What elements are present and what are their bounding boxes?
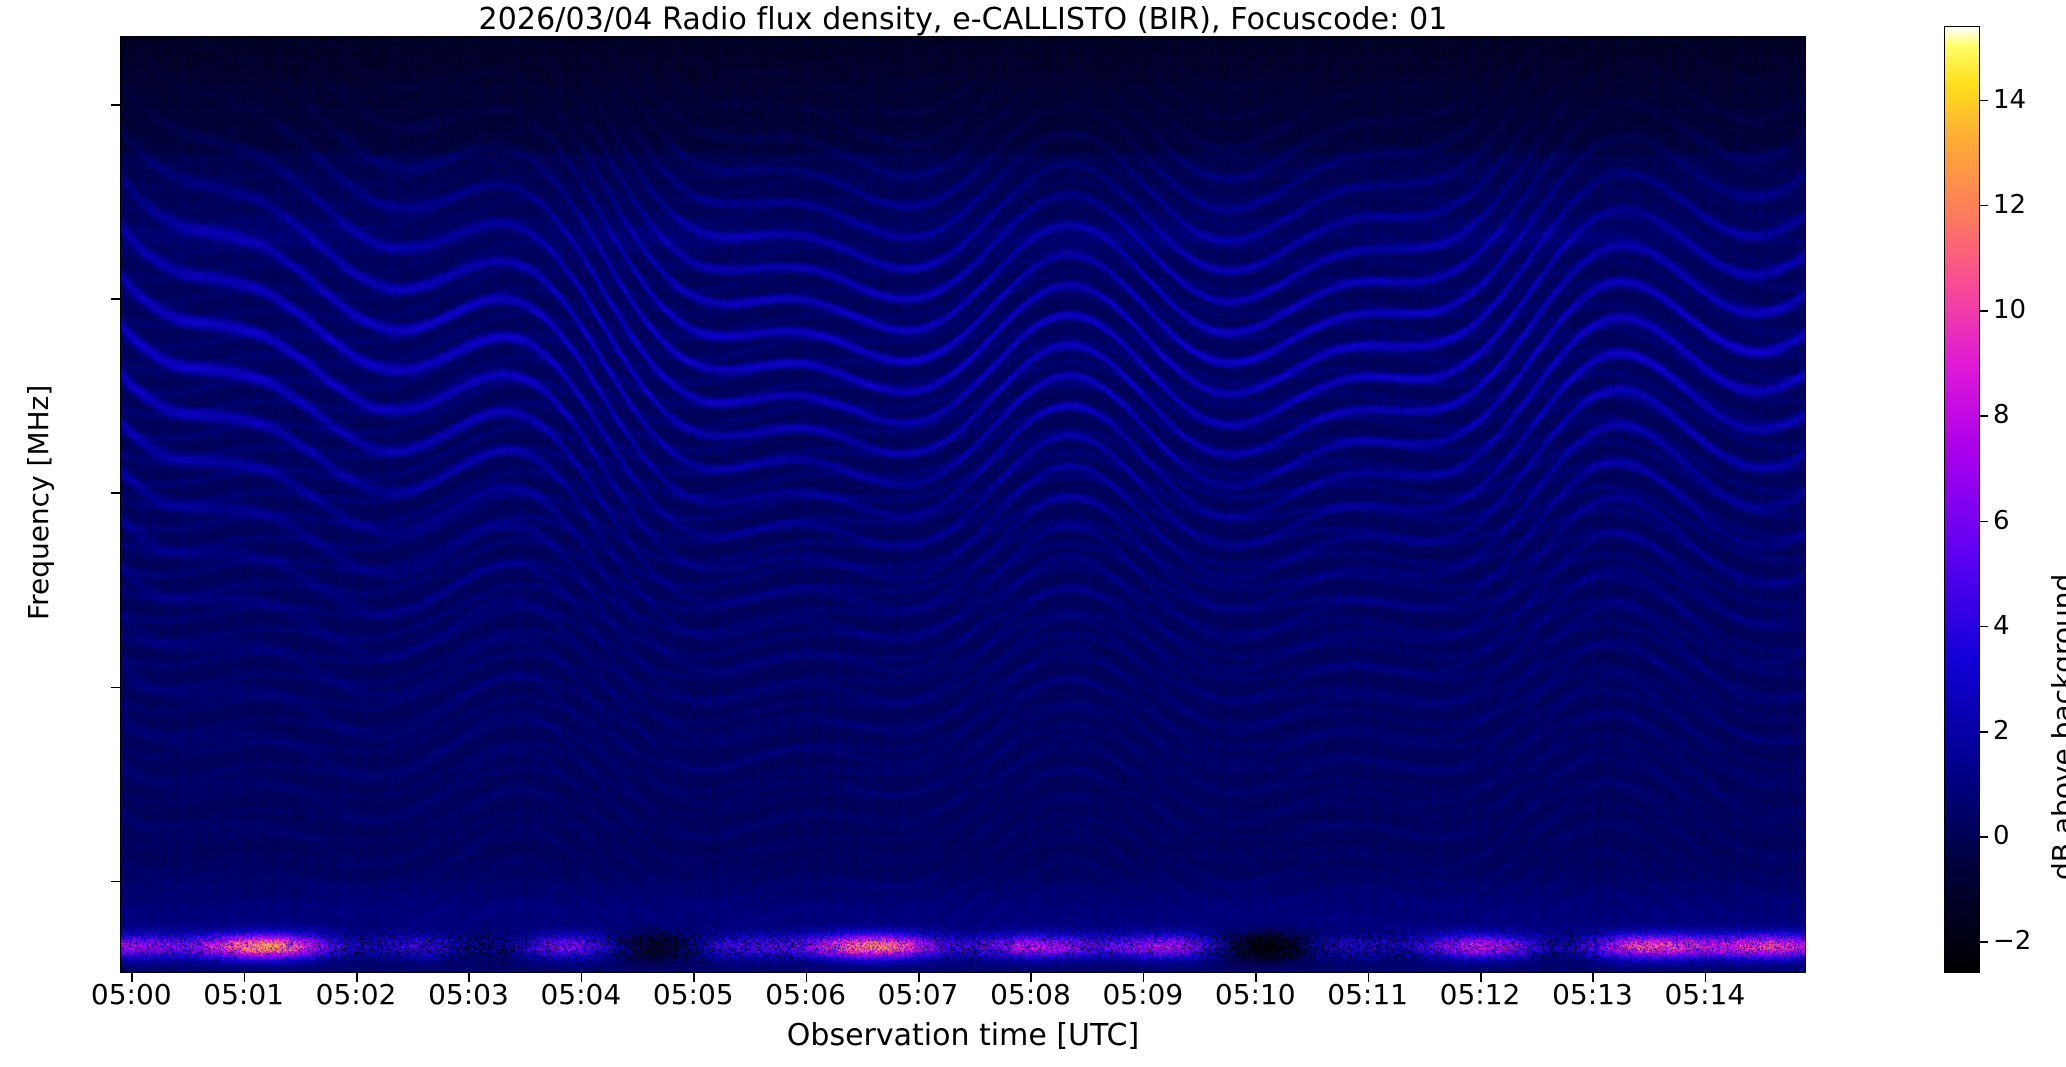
x-tick-mark bbox=[468, 973, 470, 982]
y-tick-mark bbox=[111, 687, 120, 689]
colorbar-tick-mark bbox=[1980, 731, 1988, 733]
x-tick-mark bbox=[581, 973, 583, 982]
spectrogram-image bbox=[121, 37, 1805, 972]
x-tick-mark bbox=[1143, 973, 1145, 982]
x-tick-label: 05:09 bbox=[1102, 978, 1183, 1011]
x-tick-mark bbox=[918, 973, 920, 982]
spectrogram-plot-area[interactable] bbox=[120, 36, 1806, 973]
x-tick-mark bbox=[1705, 973, 1707, 982]
colorbar-tick-mark bbox=[1980, 836, 1988, 838]
x-tick-mark bbox=[356, 973, 358, 982]
x-tick-mark bbox=[1030, 973, 1032, 982]
y-tick-mark bbox=[111, 104, 120, 106]
spectrogram-figure: 2026/03/04 Radio flux density, e-CALLIST… bbox=[0, 0, 2066, 1067]
colorbar-tick-mark bbox=[1980, 941, 1988, 943]
x-tick-label: 05:06 bbox=[765, 978, 846, 1011]
x-tick-mark bbox=[1255, 973, 1257, 982]
y-tick-mark bbox=[111, 881, 120, 883]
colorbar-tick-label: 8 bbox=[1993, 400, 2010, 430]
x-tick-mark bbox=[1592, 973, 1594, 982]
colorbar-gradient bbox=[1945, 27, 1979, 972]
x-tick-label: 05:07 bbox=[878, 978, 959, 1011]
colorbar-label: dB above background bbox=[2046, 574, 2066, 880]
colorbar-tick-label: 4 bbox=[1993, 611, 2010, 641]
y-tick-mark bbox=[111, 298, 120, 300]
colorbar-tick-label: 6 bbox=[1993, 506, 2010, 536]
colorbar-tick-mark bbox=[1980, 521, 1988, 523]
colorbar-tick-mark bbox=[1980, 415, 1988, 417]
x-tick-label: 05:12 bbox=[1440, 978, 1521, 1011]
x-tick-label: 05:00 bbox=[91, 978, 172, 1011]
colorbar-tick-label: 2 bbox=[1993, 716, 2010, 746]
x-tick-label: 05:10 bbox=[1215, 978, 1296, 1011]
y-axis-label: Frequency [MHz] bbox=[22, 385, 55, 620]
x-tick-mark bbox=[806, 973, 808, 982]
x-tick-mark bbox=[693, 973, 695, 982]
colorbar-tick-mark bbox=[1980, 626, 1988, 628]
x-tick-mark bbox=[1480, 973, 1482, 982]
y-tick-mark bbox=[111, 492, 120, 494]
x-tick-label: 05:03 bbox=[428, 978, 509, 1011]
colorbar-tick-label: 0 bbox=[1993, 821, 2010, 851]
colorbar-tick-label: 12 bbox=[1993, 190, 2026, 220]
x-tick-label: 05:11 bbox=[1327, 978, 1408, 1011]
x-tick-mark bbox=[1368, 973, 1370, 982]
colorbar-tick-label: 10 bbox=[1993, 295, 2026, 325]
x-tick-label: 05:13 bbox=[1552, 978, 1633, 1011]
x-tick-label: 05:08 bbox=[990, 978, 1071, 1011]
page-title: 2026/03/04 Radio flux density, e-CALLIST… bbox=[0, 2, 1926, 37]
x-tick-label: 05:02 bbox=[316, 978, 397, 1011]
colorbar[interactable] bbox=[1944, 26, 1980, 973]
x-tick-label: 05:05 bbox=[653, 978, 734, 1011]
x-tick-label: 05:14 bbox=[1664, 978, 1745, 1011]
colorbar-tick-mark bbox=[1980, 205, 1988, 207]
colorbar-tick-label: −2 bbox=[1993, 926, 2031, 956]
colorbar-tick-mark bbox=[1980, 310, 1988, 312]
colorbar-tick-mark bbox=[1980, 100, 1988, 102]
x-axis-label: Observation time [UTC] bbox=[120, 1018, 1806, 1053]
x-tick-label: 05:04 bbox=[540, 978, 621, 1011]
x-tick-mark bbox=[131, 973, 133, 982]
colorbar-tick-label: 14 bbox=[1993, 85, 2026, 115]
x-tick-mark bbox=[244, 973, 246, 982]
x-tick-label: 05:01 bbox=[203, 978, 284, 1011]
